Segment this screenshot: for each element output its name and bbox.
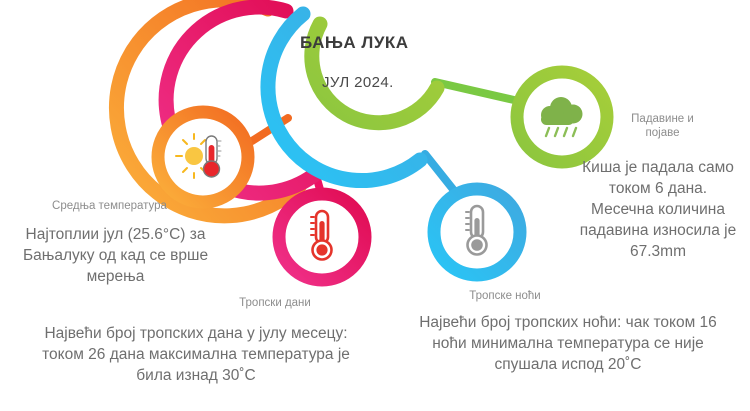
body-avg-temperature: Најтоплии јул (25.6°C) за Бањалуку од ка… — [8, 225, 223, 288]
page-subtitle: ЈУЛ 2024. — [322, 73, 522, 92]
body-tropical-days: Највећи број тропских дана у јулу месецу… — [12, 324, 380, 387]
connector-tropical-nights — [425, 154, 456, 193]
page-title: БАЊА ЛУКА — [300, 32, 500, 54]
infographic-canvas: БАЊА ЛУКА ЈУЛ 2024. Средња температура Н… — [0, 0, 750, 411]
caption-tropical-nights: Тропске ноћи — [430, 289, 580, 303]
caption-precipitation: Падавине и појаве — [600, 112, 725, 141]
ring-avg-temperature[interactable] — [158, 112, 248, 202]
caption-tropical-days: Тропски дани — [200, 296, 350, 310]
body-precipitation: Киша је падала само током 6 дана. Месечн… — [568, 158, 748, 263]
caption-avg-temperature: Средња температура — [22, 199, 197, 213]
body-tropical-nights: Највећи број тропских ноћи: чак током 16… — [390, 313, 746, 376]
